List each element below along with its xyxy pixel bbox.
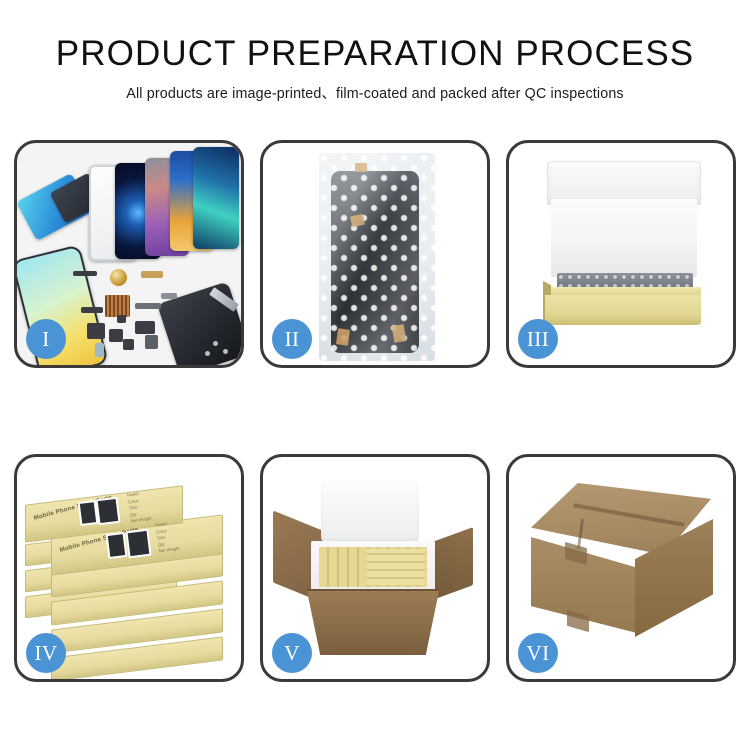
yellow-boxes-row bbox=[367, 549, 425, 585]
step-panel-5: V bbox=[260, 454, 490, 682]
step-panel-6: VI bbox=[506, 454, 736, 682]
carton-front-panel bbox=[307, 591, 439, 655]
camera-module-part bbox=[109, 329, 123, 342]
process-steps-grid: I II III bbox=[14, 140, 736, 682]
ribbon-part bbox=[161, 293, 177, 299]
step-badge-4: IV bbox=[26, 633, 66, 673]
step-badge-6: VI bbox=[518, 633, 558, 673]
step-badge-5: V bbox=[272, 633, 312, 673]
flex-cable-part bbox=[135, 303, 161, 309]
step-panel-2: II bbox=[260, 140, 490, 368]
step-panel-3: III bbox=[506, 140, 736, 368]
box-spec-text: Model: Color: Size: Qty: Net Weight: bbox=[155, 520, 181, 555]
screw-icon bbox=[213, 341, 218, 346]
foam-lid bbox=[321, 481, 419, 543]
speaker-part-icon bbox=[110, 269, 127, 286]
step-badge-1: I bbox=[26, 319, 66, 359]
battery-connector-part bbox=[145, 335, 158, 349]
page-header: PRODUCT PREPARATION PROCESS All products… bbox=[0, 0, 750, 103]
chip-grid-part bbox=[105, 295, 130, 317]
screw-icon bbox=[205, 351, 210, 356]
step-badge-3: III bbox=[518, 319, 558, 359]
box-artwork-thumb bbox=[125, 529, 151, 559]
box-artwork-thumb bbox=[106, 532, 128, 559]
sim-tray-part bbox=[95, 343, 104, 357]
connector-part bbox=[87, 323, 105, 339]
screw-icon bbox=[223, 349, 228, 354]
box-spec-text: Model: Color: Size: Qty: Net Weight: bbox=[127, 490, 153, 525]
page-title: PRODUCT PREPARATION PROCESS bbox=[0, 36, 750, 73]
plastic-sheen bbox=[319, 153, 435, 361]
antenna-part bbox=[73, 271, 97, 276]
box-artwork-thumb bbox=[95, 497, 120, 525]
step-badge-2: II bbox=[272, 319, 312, 359]
micro-component-part bbox=[117, 315, 126, 323]
connector-part bbox=[135, 321, 155, 334]
flex-cable-part bbox=[81, 307, 103, 313]
small-chip-part bbox=[123, 339, 134, 350]
step-panel-1: I bbox=[14, 140, 244, 368]
gold-contact-part bbox=[141, 271, 163, 278]
page-subtitle: All products are image-printed、film-coat… bbox=[0, 82, 750, 103]
box-front-panel bbox=[545, 295, 701, 325]
phone-display-teal bbox=[193, 147, 239, 249]
foam-sheet bbox=[551, 199, 697, 277]
step-panel-4: Mobile Phone Spare Parts Model: Color: S… bbox=[14, 454, 244, 682]
